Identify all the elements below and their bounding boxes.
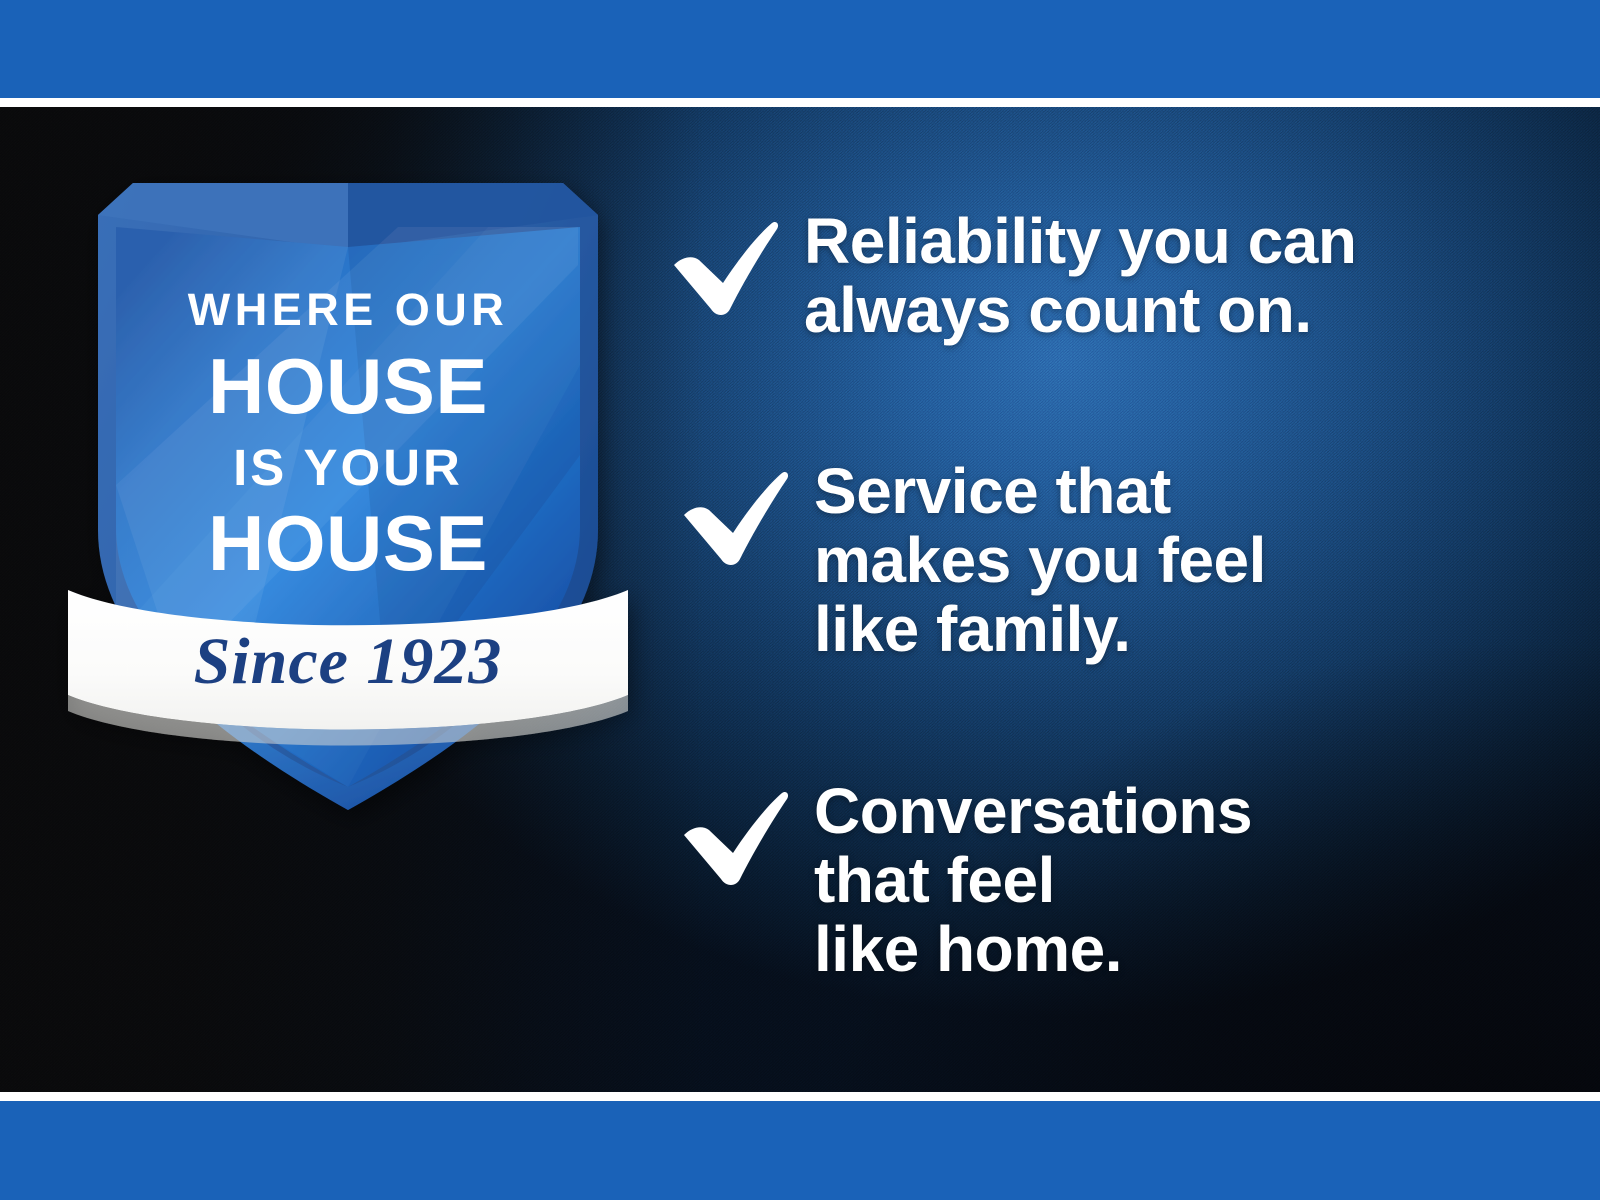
top-divider-rule [0,98,1600,107]
emblem-line-2: HOUSE [208,342,488,430]
check-icon [678,783,790,887]
bottom-brand-bar [0,1101,1600,1200]
check-icon [668,213,780,317]
bottom-divider-rule [0,1092,1600,1101]
ribbon-since-text: Since 1923 [194,625,503,698]
promo-banner: WHERE OUR HOUSE IS YOUR HOUSE Since 1923… [0,0,1600,1200]
list-item: Service that makes you feel like family. [678,457,1266,664]
list-item: Reliability you can always count on. [668,207,1356,345]
benefits-list: Reliability you can always count on. Ser… [668,107,1568,1092]
emblem-line-1: WHERE OUR [188,284,509,335]
list-item-label: Service that makes you feel like family. [814,457,1266,664]
top-brand-bar [0,0,1600,98]
list-item-label: Conversations that feel like home. [814,777,1252,984]
shield-emblem-logo: WHERE OUR HOUSE IS YOUR HOUSE Since 1923 [58,155,638,835]
check-icon [678,463,790,567]
list-item: Conversations that feel like home. [678,777,1252,984]
emblem-line-3: IS YOUR [233,439,463,496]
emblem-line-4: HOUSE [208,499,488,587]
list-item-label: Reliability you can always count on. [804,207,1356,345]
